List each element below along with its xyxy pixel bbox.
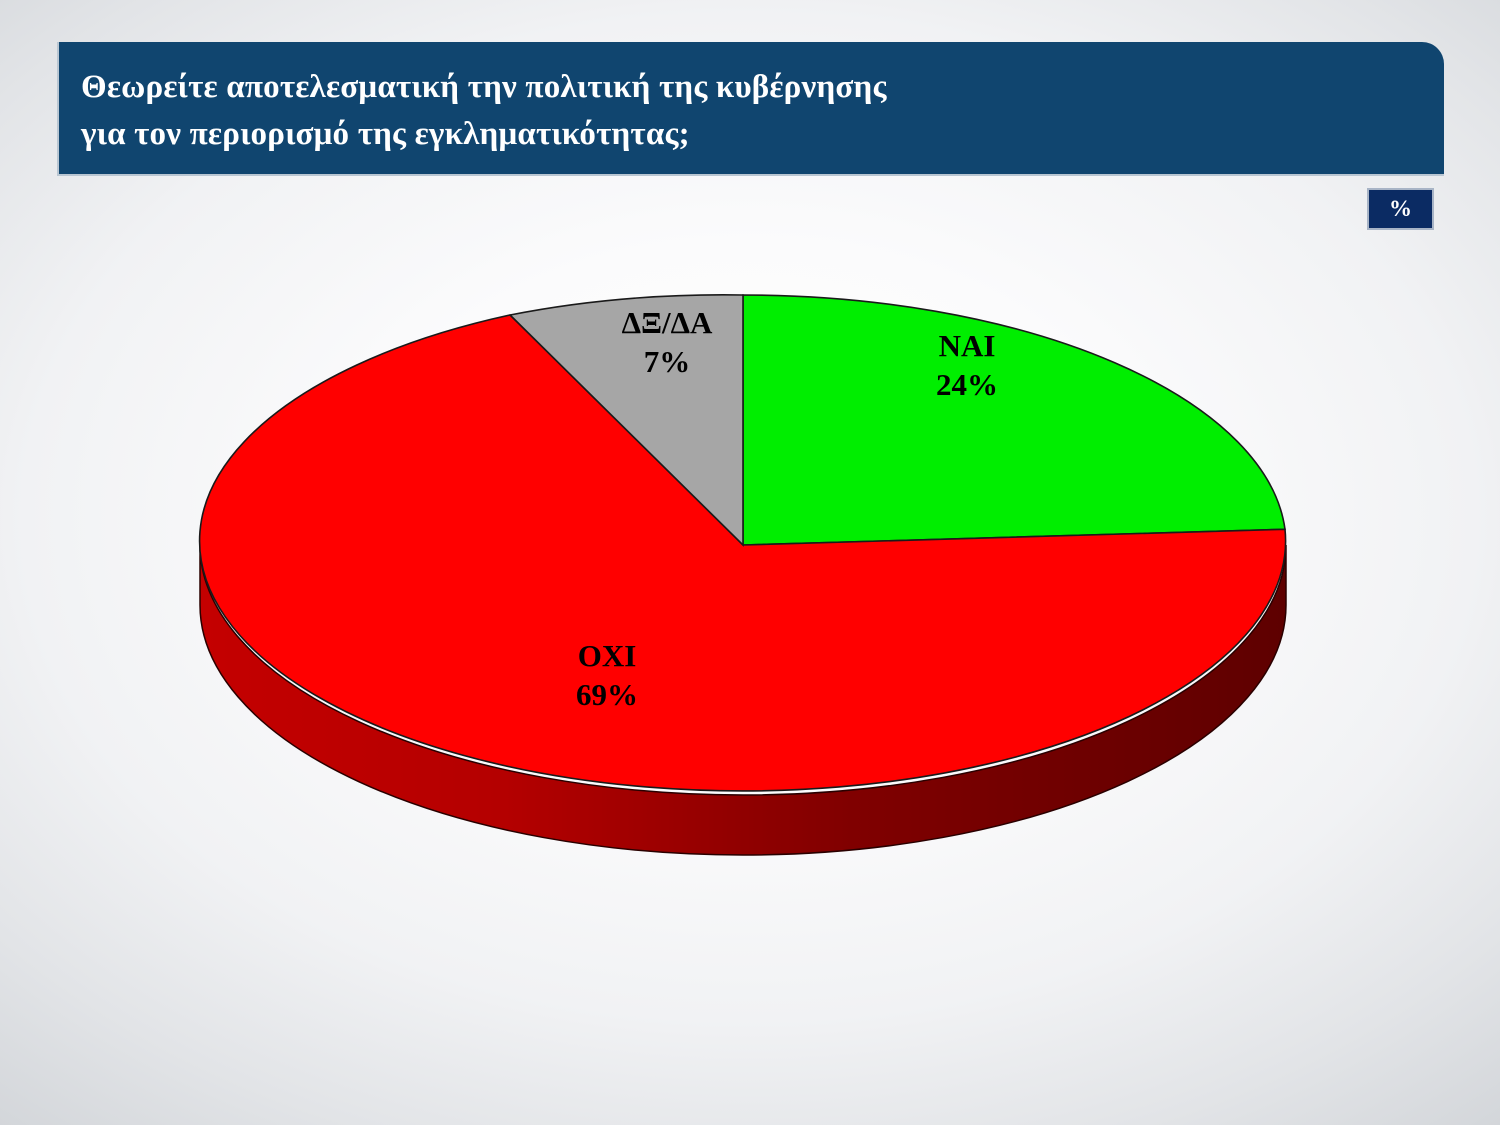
percent-unit-label: % xyxy=(1389,196,1412,222)
pie-chart: ΝΑΙ24% ΟΧΙ69% ΔΞ/ΔΑ7% xyxy=(0,232,1500,972)
footer: NEWS alco The pulse of society xyxy=(0,1005,1500,1125)
pie-slice-nai xyxy=(743,295,1285,545)
page-title: Θεωρείτε αποτελεσματική την πολιτική της… xyxy=(81,64,1444,158)
slide-root: Θεωρείτε αποτελεσματική την πολιτική της… xyxy=(0,0,1500,1125)
pie-chart-svg xyxy=(0,232,1500,972)
title-bar: Θεωρείτε αποτελεσματική την πολιτική της… xyxy=(57,42,1444,176)
percent-unit-badge: % xyxy=(1367,188,1434,230)
